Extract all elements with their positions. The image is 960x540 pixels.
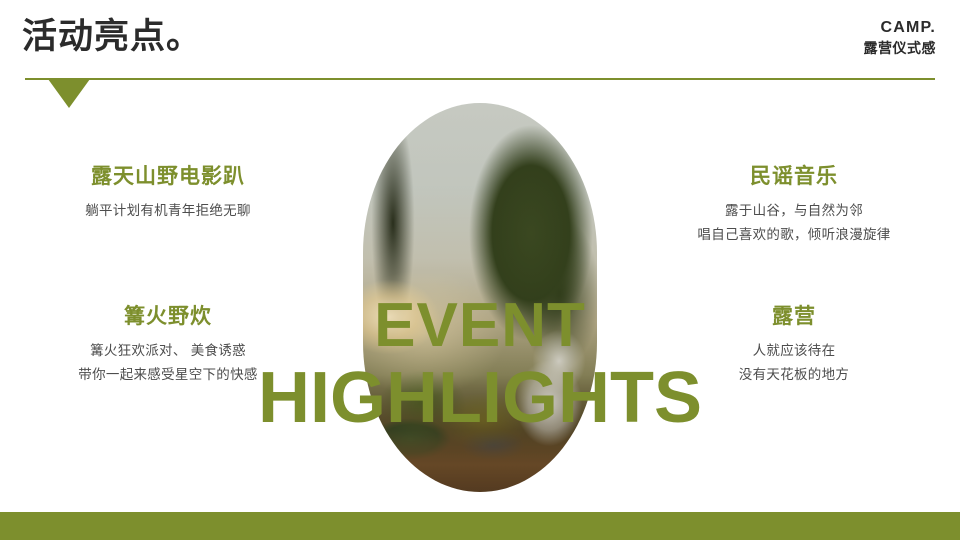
feature-heading: 民谣音乐 [644,166,944,187]
feature-line: 唱自己喜欢的歌，倾听浪漫旋律 [644,223,944,247]
hero-photo-overlay [363,103,597,492]
hero-photo [363,103,597,492]
slide-root: 活动亮点。 CAMP. 露营仪式感 EVENT HIGHLIGHTS 露天山野电… [0,0,960,540]
triangle-down-icon [48,79,90,108]
feature-line: 露于山谷，与自然为邻 [644,199,944,223]
feature-outdoor-movie: 露天山野电影趴 躺平计划有机青年拒绝无聊 [18,166,318,223]
footer-bar [0,512,960,540]
header-divider [25,78,935,80]
feature-line: 篝火狂欢派对、 美食诱惑 [18,339,318,363]
page-title: 活动亮点。 [22,19,202,54]
feature-heading: 露营 [644,306,944,327]
feature-heading: 篝火野炊 [18,306,318,327]
feature-camping: 露营 人就应该待在 没有天花板的地方 [644,306,944,386]
brand-name-en: CAMP. [864,18,937,38]
feature-bonfire-cookout: 篝火野炊 篝火狂欢派对、 美食诱惑 带你一起来感受星空下的快感 [18,306,318,386]
feature-line: 人就应该待在 [644,339,944,363]
brand-name-cn: 露营仪式感 [864,40,937,57]
feature-heading: 露天山野电影趴 [18,166,318,187]
feature-line: 躺平计划有机青年拒绝无聊 [18,199,318,223]
feature-folk-music: 民谣音乐 露于山谷，与自然为邻 唱自己喜欢的歌，倾听浪漫旋律 [644,166,944,246]
feature-line: 没有天花板的地方 [644,363,944,387]
brand-lockup: CAMP. 露营仪式感 [864,18,937,57]
feature-line: 带你一起来感受星空下的快感 [18,363,318,387]
